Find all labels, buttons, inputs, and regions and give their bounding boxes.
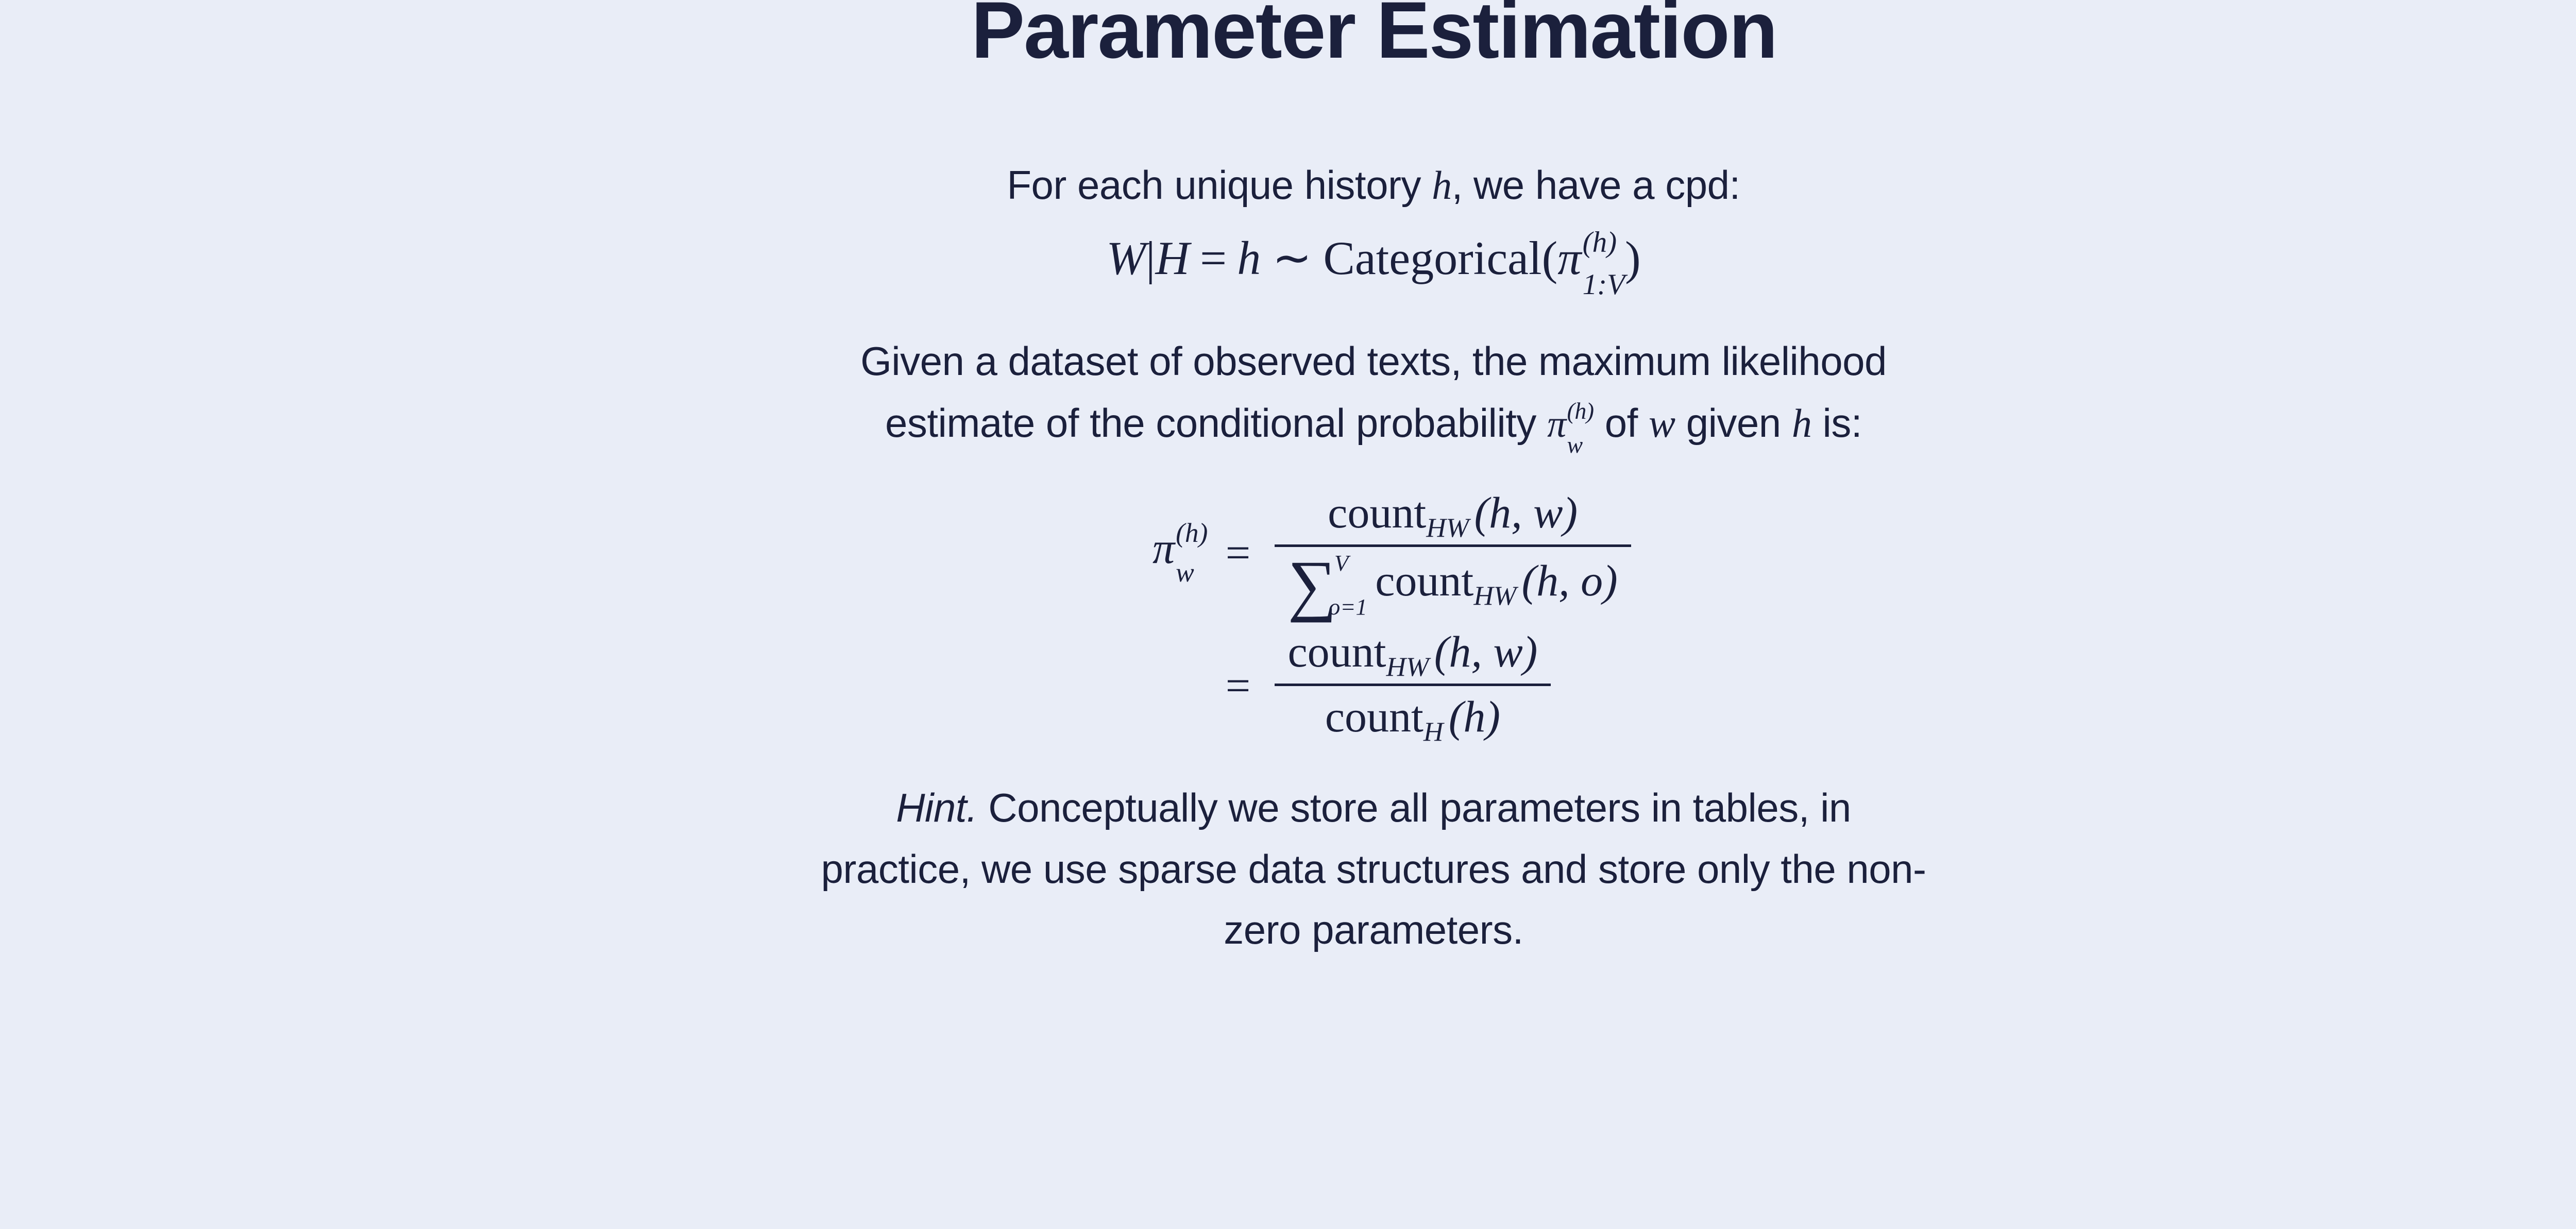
hint-text: Conceptually we store all parameters in … [821, 785, 1926, 952]
mle-pi-superscript: (h) [1567, 399, 1594, 423]
mle-paragraph: Given a dataset of observed texts, the m… [817, 330, 1930, 457]
summation-operator: ∑Vo=1 [1287, 552, 1367, 619]
equation-line-1: π(h)w = countHW(h, w) ∑Vo=1countHW(h, o) [1110, 487, 1637, 619]
fraction-1-denominator: ∑Vo=1countHW(h, o) [1275, 547, 1631, 618]
fraction-1: countHW(h, w) ∑Vo=1countHW(h, o) [1275, 487, 1631, 619]
mle-text-part2: of [1594, 400, 1649, 446]
mle-pi-scripts: (h)w [1567, 399, 1594, 457]
intro-var-h: h [1432, 155, 1452, 216]
summation-lower-limit: o=1 [1329, 595, 1367, 619]
cpd-pi-scripts: (h)1:V [1583, 228, 1625, 299]
mle-pi-symbol: π [1547, 395, 1566, 454]
summation-limits: Vo=1 [1329, 552, 1367, 619]
cpd-open-paren: ( [1542, 231, 1558, 285]
cpd-formula: W|H=h∼Categorical(π(h)1:V) [817, 228, 1930, 299]
count-hw-args-1: (h, w) [1469, 487, 1578, 538]
spacer-after-cpd [817, 299, 1930, 330]
cpd-close-paren: ) [1625, 231, 1641, 285]
count-hw-subscript-3: HW [1386, 653, 1429, 680]
count-h-name: count [1325, 691, 1423, 742]
spacer-before-equation [817, 457, 1930, 487]
slide-canvas: Parameter Estimation For each unique his… [0, 0, 2576, 1229]
count-hw-name-3: count [1287, 626, 1386, 677]
eq-pi-scripts: (h)w [1176, 519, 1208, 586]
hint-paragraph: Hint. Conceptually we store all paramete… [817, 777, 1930, 961]
fraction-2-numerator: countHW(h, w) [1275, 626, 1551, 684]
intro-suffix: , we have a cpd: [1452, 162, 1740, 208]
mle-text-part4: is: [1811, 400, 1862, 446]
cpd-sim-operator: ∼ [1261, 230, 1323, 285]
count-h-args: (h) [1443, 691, 1500, 742]
count-h-subscript: H [1423, 718, 1444, 745]
mle-display-equation: π(h)w = countHW(h, w) ∑Vo=1countHW(h, o)… [817, 487, 1930, 745]
cpd-h: h [1237, 231, 1261, 285]
intro-prefix: For each unique history [1007, 162, 1432, 208]
eq-equals-1: = [1208, 527, 1268, 578]
cpd-H: H [1155, 231, 1189, 285]
intro-paragraph: For each unique history h, we have a cpd… [817, 155, 1930, 216]
mle-pi-subscript: w [1567, 433, 1594, 457]
page-title: Parameter Estimation [0, 0, 2576, 75]
cpd-categorical: Categorical [1324, 231, 1542, 285]
mle-var-h: h [1792, 392, 1812, 454]
eq-pi-superscript: (h) [1176, 519, 1208, 547]
count-hw-name-2: count [1367, 555, 1474, 606]
mle-inline-pi: π(h)w [1547, 395, 1594, 457]
cpd-W: W [1106, 231, 1146, 285]
mle-text-part3: given [1675, 400, 1792, 446]
cpd-equals: = [1190, 231, 1237, 285]
count-hw-args-2: (h, o) [1516, 555, 1618, 606]
cpd-pipe: | [1146, 231, 1155, 285]
mle-var-w: w [1649, 392, 1675, 454]
count-hw-subscript-2: HW [1473, 582, 1516, 609]
cpd-pi-subscript: 1:V [1583, 270, 1625, 299]
slide-content: For each unique history h, we have a cpd… [817, 155, 1930, 961]
fraction-2: countHW(h, w) countH(h) [1275, 626, 1551, 746]
spacer-before-hint [817, 745, 1930, 777]
eq-pi-subscript: w [1176, 559, 1208, 586]
equation-lhs: π(h)w [1110, 519, 1208, 586]
count-hw-subscript-1: HW [1426, 514, 1469, 541]
summation-upper-limit: V [1334, 552, 1367, 575]
equation-line-2: = countHW(h, w) countH(h) [1110, 626, 1637, 746]
cpd-pi-superscript: (h) [1583, 228, 1625, 257]
fraction-2-denominator: countH(h) [1312, 686, 1514, 745]
hint-label: Hint. [896, 785, 977, 830]
cpd-pi: π [1557, 231, 1581, 285]
equation-block: π(h)w = countHW(h, w) ∑Vo=1countHW(h, o)… [1110, 487, 1637, 745]
fraction-1-numerator: countHW(h, w) [1314, 487, 1591, 545]
eq-equals-2: = [1208, 660, 1268, 711]
count-hw-name-1: count [1328, 487, 1426, 538]
eq-pi-symbol: π [1153, 522, 1175, 574]
count-hw-args-3: (h, w) [1429, 626, 1537, 677]
